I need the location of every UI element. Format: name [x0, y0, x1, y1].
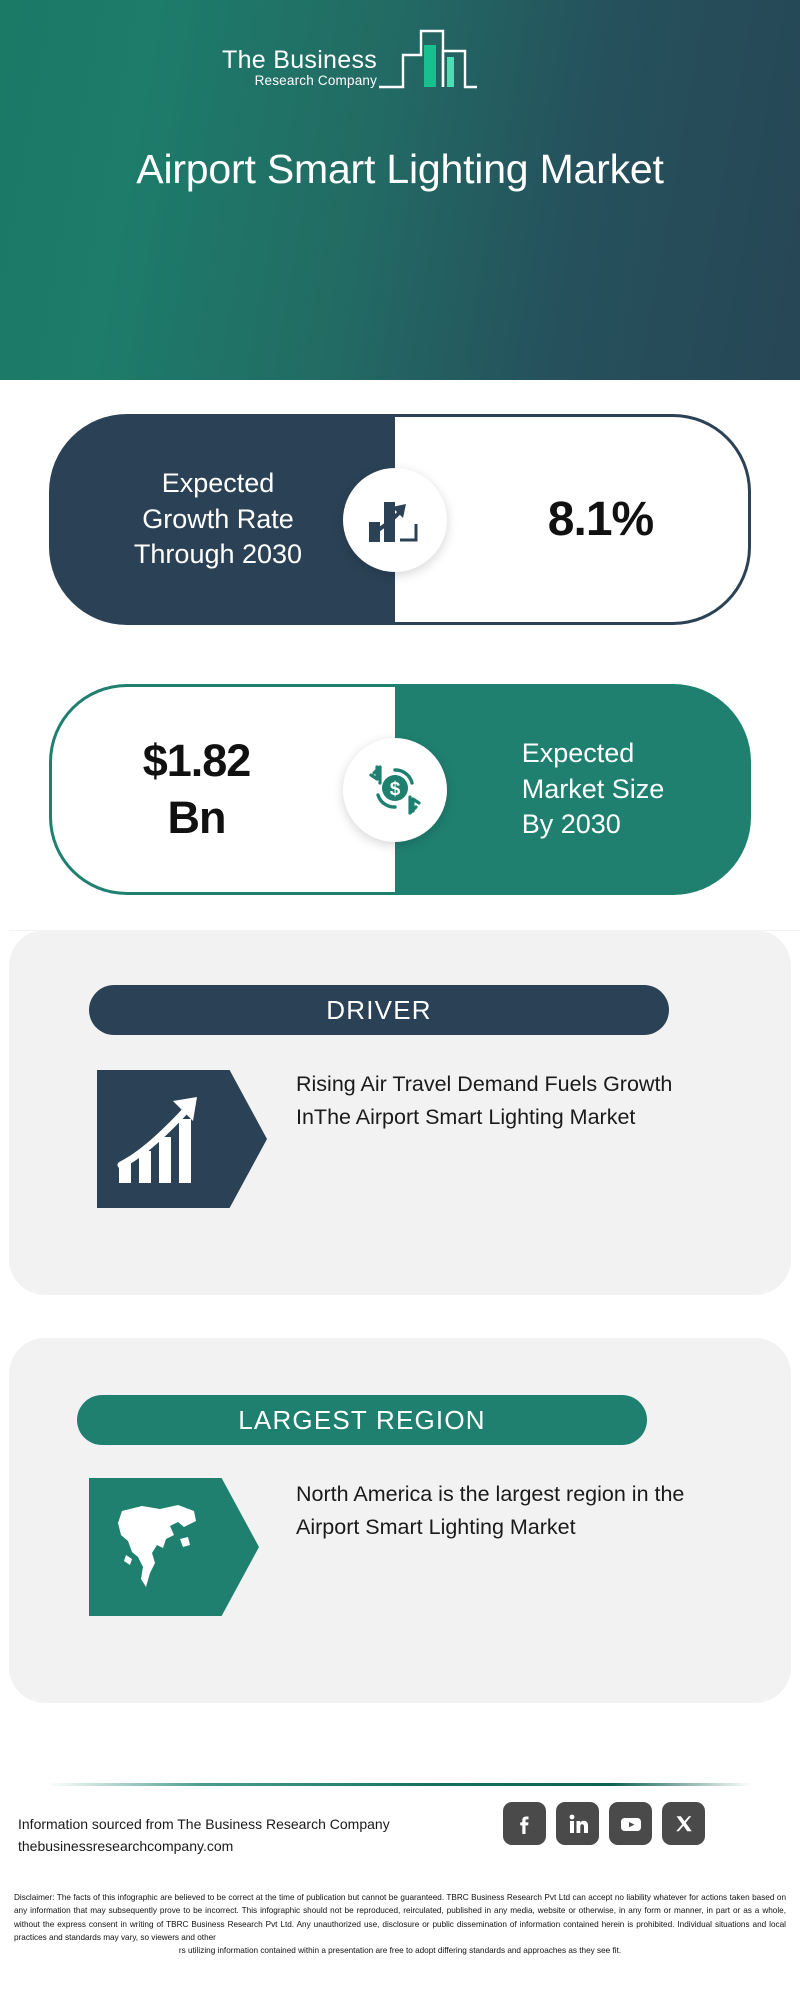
logo-line-1: The Business	[222, 47, 377, 73]
largest-region-heading-pill: LARGEST REGION	[77, 1395, 647, 1445]
growth-rate-label: Expected Growth Rate Through 2030	[116, 466, 328, 573]
social-links	[503, 1802, 705, 1845]
linkedin-icon[interactable]	[556, 1802, 599, 1845]
facebook-icon[interactable]	[503, 1802, 546, 1845]
youtube-icon[interactable]	[609, 1802, 652, 1845]
x-twitter-icon[interactable]	[662, 1802, 705, 1845]
disclaimer-last-line: rs utilizing information contained withi…	[14, 1944, 786, 1957]
growth-rate-value: 8.1%	[490, 492, 653, 547]
logo-line-2: Research Company	[255, 74, 378, 89]
driver-heading: DRIVER	[326, 995, 431, 1026]
expected-market-size-card: $1.82 Bn Expected Market Size By 2030 $	[49, 684, 751, 895]
market-size-label: Expected Market Size By 2030	[464, 736, 683, 843]
svg-text:$: $	[390, 779, 401, 800]
market-size-label-panel: Expected Market Size By 2030	[395, 684, 751, 895]
bar-chart-logo-mark	[377, 25, 479, 95]
company-logo: The Business Research Company	[222, 25, 479, 95]
disclaimer-text: Disclaimer: The facts of this infographi…	[14, 1891, 786, 1957]
logo-wordmark: The Business Research Company	[222, 47, 377, 95]
market-size-value: $1.82 Bn	[143, 733, 305, 846]
footer-divider	[48, 1783, 752, 1786]
driver-description: Rising Air Travel Demand Fuels Growth In…	[296, 1068, 706, 1133]
driver-section-background	[9, 930, 10, 931]
largest-region-heading: LARGEST REGION	[238, 1405, 486, 1436]
page-title: Airport Smart Lighting Market	[0, 145, 800, 194]
bar-chart-arrow-up-icon	[343, 468, 447, 572]
largest-region-description: North America is the largest region in t…	[296, 1478, 716, 1543]
expected-growth-rate-card: Expected Growth Rate Through 2030 8.1%	[49, 414, 751, 625]
dollar-circular-arrows-icon: $	[343, 738, 447, 842]
source-attribution: Information sourced from The Business Re…	[18, 1814, 390, 1857]
disclaimer-body: Disclaimer: The facts of this infographi…	[14, 1893, 786, 1942]
growth-rate-value-panel: 8.1%	[395, 414, 751, 625]
header-banner: The Business Research Company Airport Sm…	[0, 0, 800, 380]
driver-heading-pill: DRIVER	[89, 985, 669, 1035]
